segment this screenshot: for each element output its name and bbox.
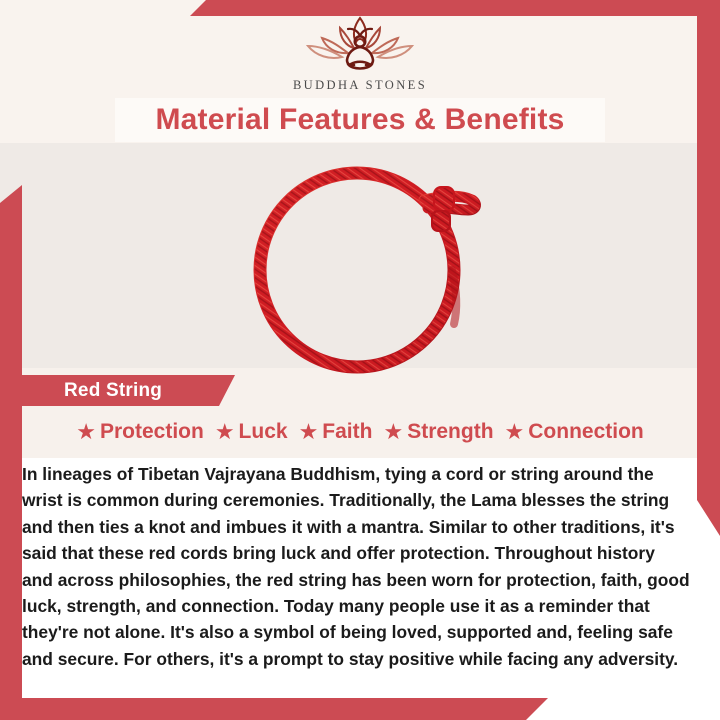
lotus-meditation-icon bbox=[296, 14, 424, 76]
benefit-item: ★ Connection bbox=[505, 420, 644, 444]
red-string-bracelet-image bbox=[228, 152, 500, 374]
benefit-label: Luck bbox=[239, 420, 288, 444]
benefit-item: ★ Luck bbox=[215, 420, 288, 444]
benefits-list: ★ Protection ★ Luck ★ Faith ★ Strength ★… bbox=[0, 420, 720, 444]
brand-name: BUDDHA STONES bbox=[0, 78, 720, 93]
frame-left-bar bbox=[0, 185, 22, 720]
frame-bottom-bar bbox=[0, 698, 548, 720]
description-text: In lineages of Tibetan Vajrayana Buddhis… bbox=[22, 461, 690, 672]
benefit-label: Strength bbox=[407, 420, 493, 444]
product-label-band: Red String bbox=[0, 375, 235, 406]
benefit-label: Connection bbox=[528, 420, 644, 444]
frame-right-bar bbox=[697, 16, 720, 536]
star-icon: ★ bbox=[299, 421, 319, 443]
benefit-item: ★ Faith bbox=[299, 420, 373, 444]
star-icon: ★ bbox=[505, 421, 525, 443]
star-icon: ★ bbox=[76, 421, 96, 443]
benefit-label: Protection bbox=[100, 420, 204, 444]
star-icon: ★ bbox=[383, 421, 403, 443]
brand-logo: BUDDHA STONES bbox=[0, 14, 720, 93]
product-label: Red String bbox=[64, 380, 162, 402]
star-icon: ★ bbox=[215, 421, 235, 443]
infographic-page: BUDDHA STONES Material Features & Benefi… bbox=[0, 0, 720, 720]
benefit-label: Faith bbox=[322, 420, 372, 444]
page-title: Material Features & Benefits bbox=[155, 103, 564, 137]
benefit-item: ★ Protection bbox=[76, 420, 204, 444]
benefit-item: ★ Strength bbox=[383, 420, 493, 444]
title-banner: Material Features & Benefits bbox=[115, 98, 605, 142]
